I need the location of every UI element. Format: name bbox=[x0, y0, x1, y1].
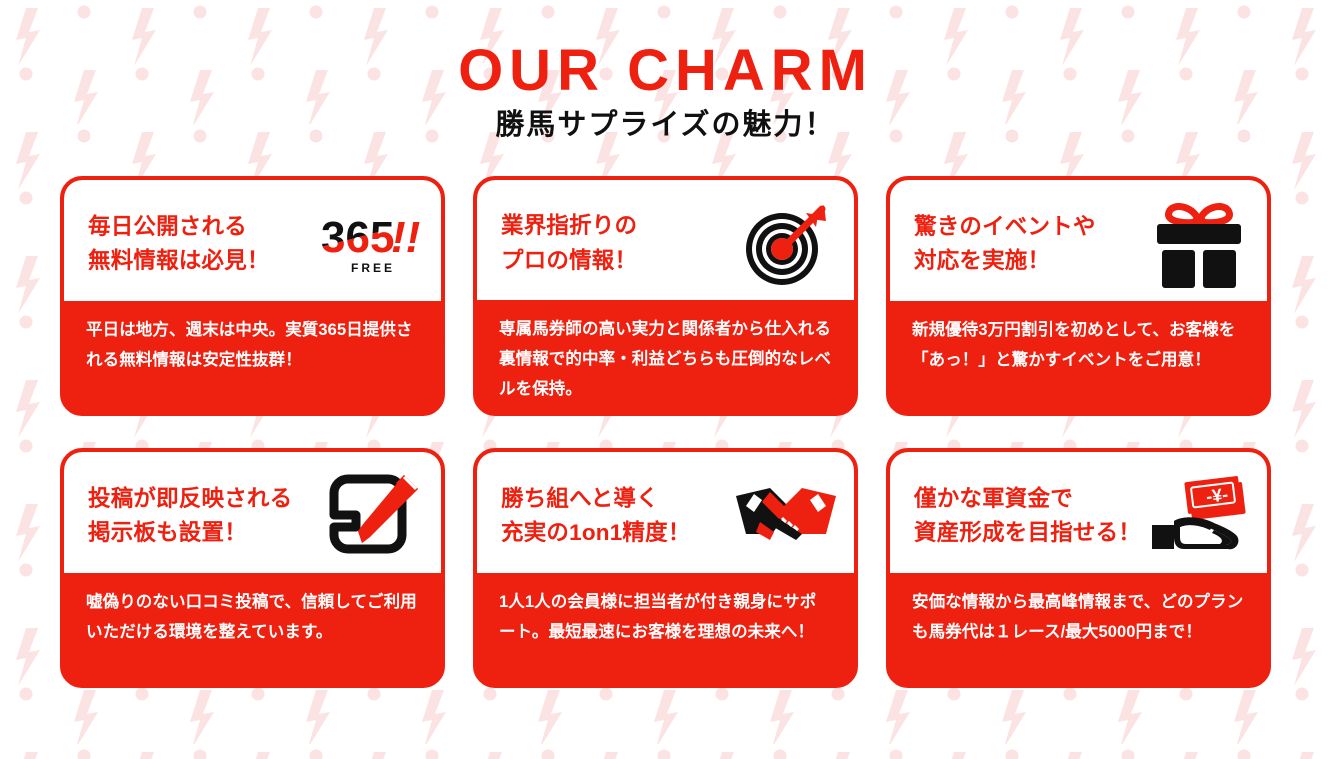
card-body-text: 平日は地方、週末は中央。実質365日提供される無料情報は安定性抜群！ bbox=[64, 301, 441, 412]
card-body-text: 嘘偽りのない口コミ投稿で、信頼してご利用いただける環境を整えています。 bbox=[64, 573, 441, 684]
charm-card-grid: 毎日公開される 無料情報は必見！ bbox=[60, 176, 1271, 688]
card-header: 勝ち組へと導く 充実の1on1精度！ bbox=[477, 452, 854, 573]
section-heading: OUR CHARM 勝馬サプライズの魅力！ bbox=[0, 0, 1331, 142]
gift-box-icon bbox=[1147, 198, 1251, 290]
card-body-text: 1人1人の会員様に担当者が付き親身にサポート。最短最速にお客様を理想の未来へ！ bbox=[477, 573, 854, 684]
charm-card-surprise-events[interactable]: 驚きのイベントや 対応を実施！ 新規優待3万円割引を初めとして、お客様を「あっ！… bbox=[886, 176, 1271, 416]
card-header: 投稿が即反映される 掲示板も設置！ bbox=[64, 452, 441, 573]
card-body-text: 安価な情報から最高峰情報まで、どのプランも馬券代は１レース/最大5000円まで！ bbox=[890, 573, 1267, 684]
card-body-text: 専属馬券師の高い実力と関係者から仕入れる裏情報で的中率・利益どちらも圧倒的なレベ… bbox=[477, 300, 854, 414]
note-pencil-icon bbox=[321, 470, 425, 562]
card-title: 驚きのイベントや 対応を実施！ bbox=[914, 210, 1141, 280]
365-free-logo-icon: 365 365 !! FREE bbox=[321, 198, 425, 290]
target-dartboard-icon bbox=[734, 198, 838, 290]
page-subtitle-japanese: 勝馬サプライズの魅力！ bbox=[0, 110, 1331, 142]
card-header: 驚きのイベントや 対応を実施！ bbox=[890, 180, 1267, 301]
charm-card-pro-information[interactable]: 業界指折りの プロの情報！ 専属馬 bbox=[473, 176, 858, 416]
charm-card-low-budget[interactable]: 僅かな軍資金で 資産形成を目指せる！ -¥- 安価な情報から最 bbox=[886, 448, 1271, 688]
card-header: 僅かな軍資金で 資産形成を目指せる！ -¥- bbox=[890, 452, 1267, 573]
charm-card-bulletin-board[interactable]: 投稿が即反映される 掲示板も設置！ 嘘偽りのない口コミ投稿で、信頼してご利用いた… bbox=[60, 448, 445, 688]
card-title: 業界指折りの プロの情報！ bbox=[501, 209, 728, 279]
free-label: FREE bbox=[321, 262, 425, 274]
charm-card-daily-free-info[interactable]: 毎日公開される 無料情報は必見！ bbox=[60, 176, 445, 416]
card-body-text: 新規優待3万円割引を初めとして、お客様を「あっ！」と驚かすイベントをご用意！ bbox=[890, 301, 1267, 412]
card-title: 投稿が即反映される 掲示板も設置！ bbox=[88, 482, 315, 552]
svg-text:!!: !! bbox=[391, 215, 420, 261]
card-header: 毎日公開される 無料情報は必見！ bbox=[64, 180, 441, 301]
card-title: 勝ち組へと導く 充実の1on1精度！ bbox=[501, 482, 728, 552]
hand-money-yen-icon: -¥- bbox=[1147, 470, 1251, 562]
handshake-icon bbox=[734, 470, 838, 562]
page-title-english: OUR CHARM bbox=[0, 42, 1331, 100]
card-title: 僅かな軍資金で 資産形成を目指せる！ bbox=[914, 482, 1141, 552]
charm-card-one-on-one-support[interactable]: 勝ち組へと導く 充実の1on1精度！ 1人1人の会員様に担当 bbox=[473, 448, 858, 688]
svg-text:-¥-: -¥- bbox=[1205, 485, 1229, 508]
our-charm-section: OUR CHARM 勝馬サプライズの魅力！ 毎日公開される 無料情報は必見！ bbox=[0, 0, 1331, 759]
card-title: 毎日公開される 無料情報は必見！ bbox=[88, 210, 315, 280]
card-header: 業界指折りの プロの情報！ bbox=[477, 180, 854, 300]
